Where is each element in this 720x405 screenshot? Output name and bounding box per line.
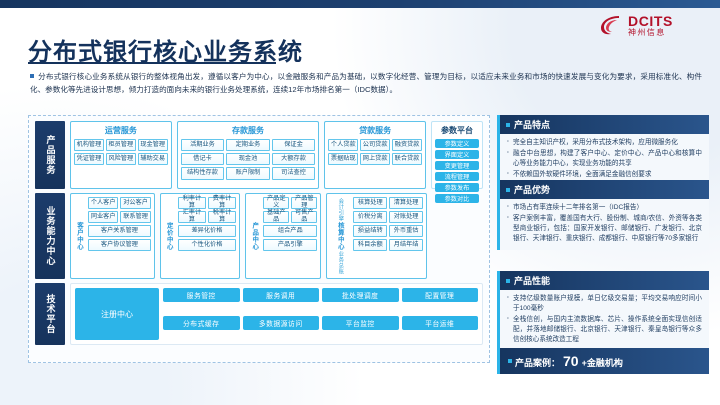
capability-center-name: 核算中心	[336, 222, 345, 250]
card-header: 产品性能	[500, 271, 709, 290]
tech-item[interactable]: 分布式缓存	[163, 316, 240, 330]
capability-item[interactable]: 核算处理	[353, 197, 387, 209]
list-item: 支持亿级数量账户规模，单日亿级交易量；平均交易响应时间小于100毫秒	[507, 294, 702, 314]
service-item[interactable]: 票据贴现	[328, 153, 358, 165]
card-title: 产品优势	[514, 183, 550, 196]
logo-chinese-name: 神州信息	[628, 29, 673, 37]
capability-center-pricing: 定价中心 利率计算 费率计算 汇率计算 税率计算 差异化价格 个性化价格	[160, 193, 240, 279]
capability-item[interactable]: 组合产品	[263, 225, 317, 237]
capability-center-name: 产品中心	[249, 197, 260, 275]
band-label-capability-centers: 业务能力中心	[35, 193, 65, 279]
band-product-services: 产品服务 运营服务 机构管理 柜员管理 现金管理 凭证管理 风险管理 辅助交易 …	[35, 121, 483, 189]
capability-item[interactable]: 产品管理	[291, 197, 317, 209]
band-tech-platform: 技术平台 注册中心 服务管控 服务调用 批处理调度 配置管理 分布式缓存 多数据…	[35, 283, 483, 345]
bullet-square-icon	[506, 188, 510, 192]
capability-center-customer: 客户中心 个人客户 对公客户 同业客户 联系管理 客户关系管理 客户协议管理	[70, 193, 155, 279]
capability-item[interactable]: 同业客户	[88, 211, 118, 223]
service-item[interactable]: 公司贷款	[360, 139, 390, 151]
parameter-item[interactable]: 参数发布	[435, 183, 479, 192]
list-item: 全栈信创，与国内主流数据库、芯片、操作系统全面实现信创适配，并落地邮储银行、北京…	[507, 315, 702, 345]
service-group-title: 存款服务	[181, 125, 316, 136]
capability-item[interactable]: 个性化价格	[178, 239, 236, 251]
service-item[interactable]: 个人贷款	[328, 139, 358, 151]
capability-item[interactable]: 价税分离	[353, 211, 387, 223]
capability-item[interactable]: 费率计算	[208, 197, 236, 209]
list-item: 融合中台思想，构建了客户中心、定价中心、产品中心和核算中心等业务能力中心，实现业…	[507, 149, 702, 169]
card-product-cases: 产品案例： 70 +金融机构	[497, 348, 709, 374]
case-label: 产品案例：	[515, 356, 560, 369]
capability-item[interactable]: 清算处理	[389, 197, 423, 209]
service-group-operations: 运营服务 机构管理 柜员管理 现金管理 凭证管理 风险管理 辅助交易	[70, 121, 172, 189]
band-label-product-services: 产品服务	[35, 121, 65, 189]
capability-center-name-group: 会计引擎 核算中心 业务总账	[330, 197, 350, 275]
tech-item[interactable]: 平台运维	[402, 316, 479, 330]
capability-item[interactable]: 科目余额	[353, 239, 387, 251]
service-item[interactable]: 司法查控	[272, 167, 316, 180]
logo-wordmark: DCITS	[628, 14, 673, 28]
parameter-platform: 参数平台 参数定义 界面定义 变更管理 流程管理 参数发布 参数对比	[431, 121, 483, 189]
tech-item[interactable]: 服务管控	[163, 288, 240, 302]
list-item: 客户案例丰富，覆盖国有大行、股份制、城商/农信、外资等各类型商业银行，包括：国家…	[507, 214, 702, 244]
capability-item[interactable]: 税率计算	[208, 211, 236, 223]
service-item[interactable]: 账户限制	[226, 167, 270, 180]
accounting-sub-bottom: 业务总账	[336, 251, 344, 275]
card-header: 产品优势	[500, 180, 709, 199]
capability-item[interactable]: 客户协议管理	[88, 239, 151, 251]
service-item[interactable]: 机构管理	[74, 139, 104, 151]
service-group-deposit: 存款服务 活期业务 定期业务 保证金 借记卡 现金池 大额存款 结构性存款 账户…	[177, 121, 320, 189]
service-item[interactable]: 辅助交易	[138, 153, 168, 165]
capability-item[interactable]: 产品定义	[263, 197, 289, 209]
card-product-advantages: 产品优势 市场占有率连续十二年排名第一（IDC报告） 客户案例丰富，覆盖国有大行…	[497, 180, 709, 250]
bullet-square-icon	[506, 279, 510, 283]
service-item[interactable]: 联合贷款	[392, 153, 422, 165]
capability-item[interactable]: 联系管理	[120, 211, 150, 223]
architecture-diagram: 产品服务 运营服务 机构管理 柜员管理 现金管理 凭证管理 风险管理 辅助交易 …	[28, 115, 490, 363]
bullet-square-icon	[506, 123, 510, 127]
tech-item[interactable]: 服务调用	[243, 288, 320, 302]
card-header: 产品特点	[500, 115, 709, 134]
service-item[interactable]: 柜员管理	[106, 139, 136, 151]
service-group-title: 贷款服务	[328, 125, 422, 136]
capability-item[interactable]: 损益结转	[353, 225, 387, 237]
service-item[interactable]: 借记卡	[181, 153, 225, 165]
case-suffix: +金融机构	[582, 356, 623, 369]
parameter-item[interactable]: 参数定义	[435, 139, 479, 148]
capability-item[interactable]: 外币重估	[389, 225, 423, 237]
band-capability-centers: 业务能力中心 客户中心 个人客户 对公客户 同业客户 联系管理 客户关系管理 客…	[35, 193, 483, 279]
capability-item[interactable]: 利率计算	[178, 197, 206, 209]
service-item[interactable]: 风险管理	[106, 153, 136, 165]
tech-registry-center[interactable]: 注册中心	[75, 288, 159, 340]
tech-item[interactable]: 多数据源访问	[243, 316, 320, 330]
service-group-loan: 贷款服务 个人贷款 公司贷款 融资贷款 票据贴现 网上贷款 联合贷款	[324, 121, 426, 189]
title-underline	[28, 62, 276, 64]
capability-item[interactable]: 对公客户	[120, 197, 150, 209]
capability-item[interactable]: 产品引擎	[263, 239, 317, 251]
bullet-square-icon	[30, 74, 34, 78]
brand-logo: DCITS 神州信息	[598, 11, 710, 39]
capability-center-product: 产品中心 产品定义 产品管理 基础产品 可售产品 组合产品 产品引擎	[245, 193, 321, 279]
capability-item[interactable]: 差异化价格	[178, 225, 236, 237]
capability-item[interactable]: 个人客户	[88, 197, 118, 209]
parameter-item[interactable]: 变更管理	[435, 161, 479, 170]
list-item: 完全自主知识产权，采用分布式技术架构，应用微服务化	[507, 138, 702, 148]
bullet-square-icon	[508, 359, 512, 363]
capability-item[interactable]: 基础产品	[263, 211, 289, 223]
service-item[interactable]: 活期业务	[181, 139, 225, 151]
capability-center-name: 客户中心	[74, 197, 85, 275]
tech-item[interactable]: 批处理调度	[322, 288, 399, 302]
tech-platform-panel: 注册中心 服务管控 服务调用 批处理调度 配置管理 分布式缓存 多数据源访问 平…	[70, 283, 483, 345]
lead-paragraph: 分布式银行核心业务系统从银行的整体视角出发，遵循以客户为中心，以金融服务和产品为…	[30, 70, 702, 97]
card-product-features: 产品特点 完全自主知识产权，采用分布式技术架构，应用微服务化 融合中台思想，构建…	[497, 115, 709, 186]
case-count: 70	[563, 353, 579, 369]
list-item: 不依赖国外软硬件环境，全面满足金融信创要求	[507, 170, 702, 180]
band-label-tech-platform: 技术平台	[35, 283, 65, 345]
capability-center-accounting: 会计引擎 核算中心 业务总账 核算处理 清算处理 价税分离 对账处理 损益结转 …	[326, 193, 427, 279]
parameter-item[interactable]: 流程管理	[435, 172, 479, 181]
tech-item[interactable]: 平台监控	[322, 316, 399, 330]
capability-item[interactable]: 月结年结	[389, 239, 423, 251]
lead-text: 分布式银行核心业务系统从银行的整体视角出发，遵循以客户为中心，以金融服务和产品为…	[30, 72, 702, 94]
service-item[interactable]: 结构性存款	[181, 167, 225, 180]
top-accent-bar	[0, 0, 720, 8]
parameter-platform-title: 参数平台	[435, 125, 479, 136]
service-item[interactable]: 网上贷款	[360, 153, 390, 165]
service-item[interactable]: 现金池	[226, 153, 270, 165]
logo-swoosh-icon	[598, 13, 623, 37]
capability-item[interactable]: 汇率计算	[178, 211, 206, 223]
service-item[interactable]: 现金管理	[138, 139, 168, 151]
parameter-item[interactable]: 界面定义	[435, 150, 479, 159]
service-item[interactable]: 凭证管理	[74, 153, 104, 165]
tech-item[interactable]: 配置管理	[402, 288, 479, 302]
accounting-sub-top: 会计引擎	[336, 198, 344, 222]
service-item[interactable]: 定期业务	[226, 139, 270, 151]
capability-center-name: 定价中心	[164, 197, 175, 275]
card-title: 产品性能	[514, 274, 550, 287]
capability-item[interactable]: 客户关系管理	[88, 225, 151, 237]
capability-item[interactable]: 对账处理	[389, 211, 423, 223]
card-product-performance: 产品性能 支持亿级数量账户规模，单日亿级交易量；平均交易响应时间小于100毫秒 …	[497, 271, 709, 351]
service-group-title: 运营服务	[74, 125, 168, 136]
service-item[interactable]: 融资贷款	[392, 139, 422, 151]
service-item[interactable]: 保证金	[272, 139, 316, 151]
service-item[interactable]: 大额存款	[272, 153, 316, 165]
card-title: 产品特点	[514, 118, 550, 131]
capability-item[interactable]: 可售产品	[291, 211, 317, 223]
list-item: 市场占有率连续十二年排名第一（IDC报告）	[507, 203, 702, 213]
